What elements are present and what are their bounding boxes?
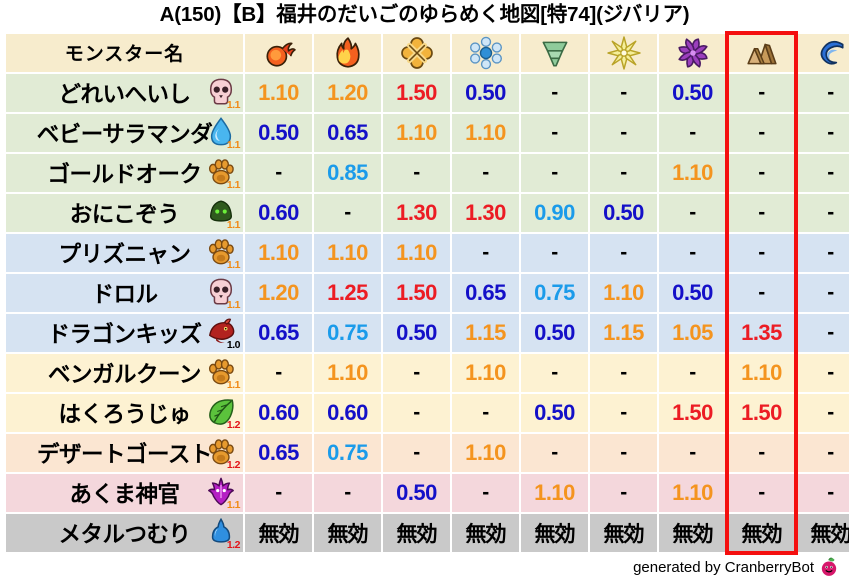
table-header-row: モンスター名	[6, 34, 849, 72]
footer-credit: generated by CranberryBot	[633, 557, 839, 577]
resistance-cell-bagi: -	[521, 234, 588, 272]
table-row: ドロル1.11.201.251.500.650.751.100.50--	[6, 274, 849, 312]
monster-name-cell: メタルつむり1.2	[6, 514, 243, 552]
resistance-cell-hyado: 1.10	[452, 434, 519, 472]
version-badge: 1.1	[227, 220, 240, 231]
resistance-cell-bagi: -	[521, 354, 588, 392]
resistance-cell-dein: -	[590, 354, 657, 392]
resistance-cell-mera: -	[245, 474, 312, 512]
resistance-cell-dein: 1.10	[590, 274, 657, 312]
resistance-cell-jibaria: 1.10	[728, 354, 795, 392]
monster-name-cell: ベンガルクーン1.1	[6, 354, 243, 392]
resistance-cell-jibaria: 1.35	[728, 314, 795, 352]
resistance-cell-bagi: -	[521, 114, 588, 152]
resistance-cell-jibaria: 1.50	[728, 394, 795, 432]
explosion-icon	[400, 36, 434, 70]
column-header-io	[383, 34, 450, 72]
monster-name-cell: ドラゴンキッズ1.0	[6, 314, 243, 352]
monster-name-cell: あくま神官1.1	[6, 474, 243, 512]
resistance-cell-jibaria: -	[728, 74, 795, 112]
resistance-cell-hyado: 0.50	[452, 74, 519, 112]
resistance-cell-hyado: 1.10	[452, 354, 519, 392]
resistance-cell-mera: 0.50	[245, 114, 312, 152]
resistance-cell-jibaria: -	[728, 474, 795, 512]
water-icon	[814, 36, 848, 70]
version-badge: 1.1	[227, 260, 240, 271]
table-row: デザートゴースト1.20.650.75-1.10-----	[6, 434, 849, 472]
resistance-cell-mera: -	[245, 354, 312, 392]
resistance-cell-dein: 無効	[590, 514, 657, 552]
resistance-cell-gira: 1.25	[314, 274, 381, 312]
version-badge: 1.2	[227, 460, 240, 471]
column-header-jibaria	[728, 34, 795, 72]
version-badge: 1.1	[227, 180, 240, 191]
resistance-cell-io: 1.10	[383, 114, 450, 152]
resistance-cell-dein: -	[590, 154, 657, 192]
table-row: プリズニャン1.11.101.101.10------	[6, 234, 849, 272]
resistance-cell-hyado: -	[452, 474, 519, 512]
resistance-cell-hyado: -	[452, 234, 519, 272]
monster-name-label: ドロル	[91, 277, 157, 309]
resistance-cell-dein: -	[590, 474, 657, 512]
resistance-cell-bagi: 0.90	[521, 194, 588, 232]
resistance-cell-merazoma: -	[797, 474, 849, 512]
version-badge: 1.0	[227, 340, 240, 351]
resistance-cell-dorma: -	[659, 434, 726, 472]
resistance-cell-mera: 0.60	[245, 194, 312, 232]
column-header-hyado	[452, 34, 519, 72]
version-badge: 1.1	[227, 300, 240, 311]
table-row: あくま神官1.1--0.50-1.10-1.10--	[6, 474, 849, 512]
resistance-cell-bagi: -	[521, 154, 588, 192]
resistance-cell-dorma: 無効	[659, 514, 726, 552]
resistance-cell-io: -	[383, 354, 450, 392]
column-header-bagi	[521, 34, 588, 72]
resistance-cell-dorma: -	[659, 354, 726, 392]
version-badge: 1.1	[227, 100, 240, 111]
table-row: ベンガルクーン1.1-1.10-1.10---1.10-	[6, 354, 849, 392]
resistance-cell-mera: 1.10	[245, 74, 312, 112]
monster-name-label: どれいへいし	[58, 77, 190, 109]
monster-name-label: ベビーサラマンダ	[37, 117, 213, 149]
resistance-cell-io: 1.50	[383, 74, 450, 112]
resistance-cell-mera: 無効	[245, 514, 312, 552]
resistance-cell-jibaria: -	[728, 114, 795, 152]
resistance-cell-merazoma: -	[797, 274, 849, 312]
table-row: メタルつむり1.2無効無効無効無効無効無効無効無効無効	[6, 514, 849, 552]
resistance-cell-gira: 0.75	[314, 434, 381, 472]
column-header-gira	[314, 34, 381, 72]
version-badge: 1.1	[227, 140, 240, 151]
page-title: A(150)【B】福井のだいごのゆらめく地図[特74](ジバリア)	[0, 0, 849, 32]
monster-name-cell: おにこぞう1.1	[6, 194, 243, 232]
resistance-cell-gira: 0.75	[314, 314, 381, 352]
footer-text: generated by CranberryBot	[633, 559, 814, 576]
resistance-cell-dein: -	[590, 434, 657, 472]
resistance-cell-io: 無効	[383, 514, 450, 552]
resistance-table: モンスター名 どれいへいし1.11.101.201.500.50--0.50--…	[4, 32, 849, 554]
resistance-cell-merazoma: -	[797, 114, 849, 152]
resistance-cell-hyado: 無効	[452, 514, 519, 552]
monster-name-cell: ベビーサラマンダ1.1	[6, 114, 243, 152]
resistance-cell-hyado: 1.15	[452, 314, 519, 352]
resistance-cell-jibaria: -	[728, 434, 795, 472]
resistance-cell-mera: 0.65	[245, 314, 312, 352]
resistance-cell-gira: 1.10	[314, 354, 381, 392]
resistance-cell-jibaria: -	[728, 154, 795, 192]
resistance-cell-gira: 1.20	[314, 74, 381, 112]
resistance-cell-bagi: 0.50	[521, 314, 588, 352]
resistance-cell-hyado: -	[452, 394, 519, 432]
monster-name-cell: ゴールドオーク1.1	[6, 154, 243, 192]
resistance-cell-merazoma: -	[797, 74, 849, 112]
monster-name-label: デザートゴースト	[37, 437, 212, 469]
column-header-monster-name: モンスター名	[6, 34, 243, 72]
resistance-cell-gira: 0.65	[314, 114, 381, 152]
resistance-cell-io: 1.50	[383, 274, 450, 312]
resistance-cell-dein: -	[590, 114, 657, 152]
resistance-cell-merazoma: -	[797, 154, 849, 192]
resistance-cell-dein: -	[590, 74, 657, 112]
monster-name-cell: どれいへいし1.1	[6, 74, 243, 112]
resistance-cell-merazoma: 無効	[797, 514, 849, 552]
table-row: ゴールドオーク1.1-0.85----1.10--	[6, 154, 849, 192]
resistance-cell-mera: 1.10	[245, 234, 312, 272]
resistance-cell-dein: -	[590, 394, 657, 432]
monster-name-cell: ドロル1.1	[6, 274, 243, 312]
monster-name-label: あくま神官	[69, 477, 179, 509]
resistance-cell-mera: 0.65	[245, 434, 312, 472]
table-row: ベビーサラマンダ1.10.500.651.101.10-----	[6, 114, 849, 152]
resistance-cell-bagi: 無効	[521, 514, 588, 552]
resistance-cell-io: 1.10	[383, 234, 450, 272]
resistance-cell-gira: 無効	[314, 514, 381, 552]
resistance-cell-merazoma: -	[797, 434, 849, 472]
fireball-icon	[262, 36, 296, 70]
resistance-cell-merazoma: -	[797, 194, 849, 232]
column-header-dein	[590, 34, 657, 72]
resistance-cell-io: 0.50	[383, 474, 450, 512]
monster-name-label: ドラゴンキッズ	[47, 317, 201, 349]
resistance-cell-bagi: 0.75	[521, 274, 588, 312]
resistance-cell-dorma: 1.10	[659, 474, 726, 512]
table-body: どれいへいし1.11.101.201.500.50--0.50--ベビーサラマン…	[6, 74, 849, 552]
resistance-cell-io: -	[383, 394, 450, 432]
version-badge: 1.2	[227, 420, 240, 431]
earth-icon	[745, 36, 779, 70]
resistance-cell-bagi: -	[521, 74, 588, 112]
resistance-cell-dorma: -	[659, 114, 726, 152]
resistance-cell-dein: -	[590, 234, 657, 272]
monster-name-label: はくろうじゅ	[58, 397, 190, 429]
monster-name-label: ベンガルクーン	[48, 357, 201, 389]
resistance-cell-dorma: 0.50	[659, 74, 726, 112]
resistance-cell-jibaria: 無効	[728, 514, 795, 552]
resistance-cell-jibaria: -	[728, 274, 795, 312]
resistance-cell-merazoma: -	[797, 314, 849, 352]
column-header-dorma	[659, 34, 726, 72]
resistance-cell-gira: -	[314, 194, 381, 232]
resistance-cell-hyado: 1.30	[452, 194, 519, 232]
monster-name-cell: はくろうじゅ1.2	[6, 394, 243, 432]
resistance-cell-dorma: 0.50	[659, 274, 726, 312]
resistance-cell-merazoma: -	[797, 234, 849, 272]
monster-name-label: ゴールドオーク	[47, 157, 201, 189]
resistance-cell-hyado: 1.10	[452, 114, 519, 152]
resistance-cell-jibaria: -	[728, 234, 795, 272]
resistance-cell-dein: 1.15	[590, 314, 657, 352]
resistance-cell-merazoma: -	[797, 394, 849, 432]
resistance-cell-dorma: 1.05	[659, 314, 726, 352]
resistance-cell-mera: -	[245, 154, 312, 192]
resistance-cell-io: -	[383, 154, 450, 192]
resistance-cell-dorma: 1.10	[659, 154, 726, 192]
resistance-cell-gira: -	[314, 474, 381, 512]
table-row: おにこぞう1.10.60-1.301.300.900.50---	[6, 194, 849, 232]
version-badge: 1.1	[227, 500, 240, 511]
resistance-cell-gira: 0.60	[314, 394, 381, 432]
resistance-cell-dorma: 1.50	[659, 394, 726, 432]
version-badge: 1.2	[227, 540, 240, 551]
light-icon	[607, 36, 641, 70]
resistance-cell-dein: 0.50	[590, 194, 657, 232]
resistance-cell-hyado: 0.65	[452, 274, 519, 312]
column-header-merazoma	[797, 34, 849, 72]
version-badge: 1.1	[227, 380, 240, 391]
cranberry-icon	[819, 557, 839, 577]
resistance-matrix-container: モンスター名 どれいへいし1.11.101.201.500.50--0.50--…	[0, 32, 849, 554]
resistance-cell-io: -	[383, 434, 450, 472]
wind-icon	[538, 36, 572, 70]
monster-name-label: メタルつむり	[58, 517, 190, 549]
resistance-cell-bagi: 0.50	[521, 394, 588, 432]
monster-name-label: おにこぞう	[70, 197, 180, 229]
monster-name-cell: デザートゴースト1.2	[6, 434, 243, 472]
resistance-cell-dorma: -	[659, 234, 726, 272]
ice-icon	[469, 36, 503, 70]
table-row: ドラゴンキッズ1.00.650.750.501.150.501.151.051.…	[6, 314, 849, 352]
resistance-cell-io: 1.30	[383, 194, 450, 232]
resistance-cell-hyado: -	[452, 154, 519, 192]
table-row: どれいへいし1.11.101.201.500.50--0.50--	[6, 74, 849, 112]
column-header-mera	[245, 34, 312, 72]
resistance-cell-dorma: -	[659, 194, 726, 232]
resistance-cell-bagi: 1.10	[521, 474, 588, 512]
monster-name-label: プリズニャン	[58, 237, 190, 269]
table-row: はくろうじゅ1.20.600.60--0.50-1.501.50-	[6, 394, 849, 432]
resistance-cell-mera: 1.20	[245, 274, 312, 312]
resistance-cell-bagi: -	[521, 434, 588, 472]
resistance-cell-jibaria: -	[728, 194, 795, 232]
monster-name-cell: プリズニャン1.1	[6, 234, 243, 272]
resistance-cell-gira: 0.85	[314, 154, 381, 192]
resistance-cell-gira: 1.10	[314, 234, 381, 272]
flame-icon	[331, 36, 365, 70]
dark-icon	[676, 36, 710, 70]
resistance-cell-mera: 0.60	[245, 394, 312, 432]
resistance-cell-io: 0.50	[383, 314, 450, 352]
resistance-cell-merazoma: -	[797, 354, 849, 392]
